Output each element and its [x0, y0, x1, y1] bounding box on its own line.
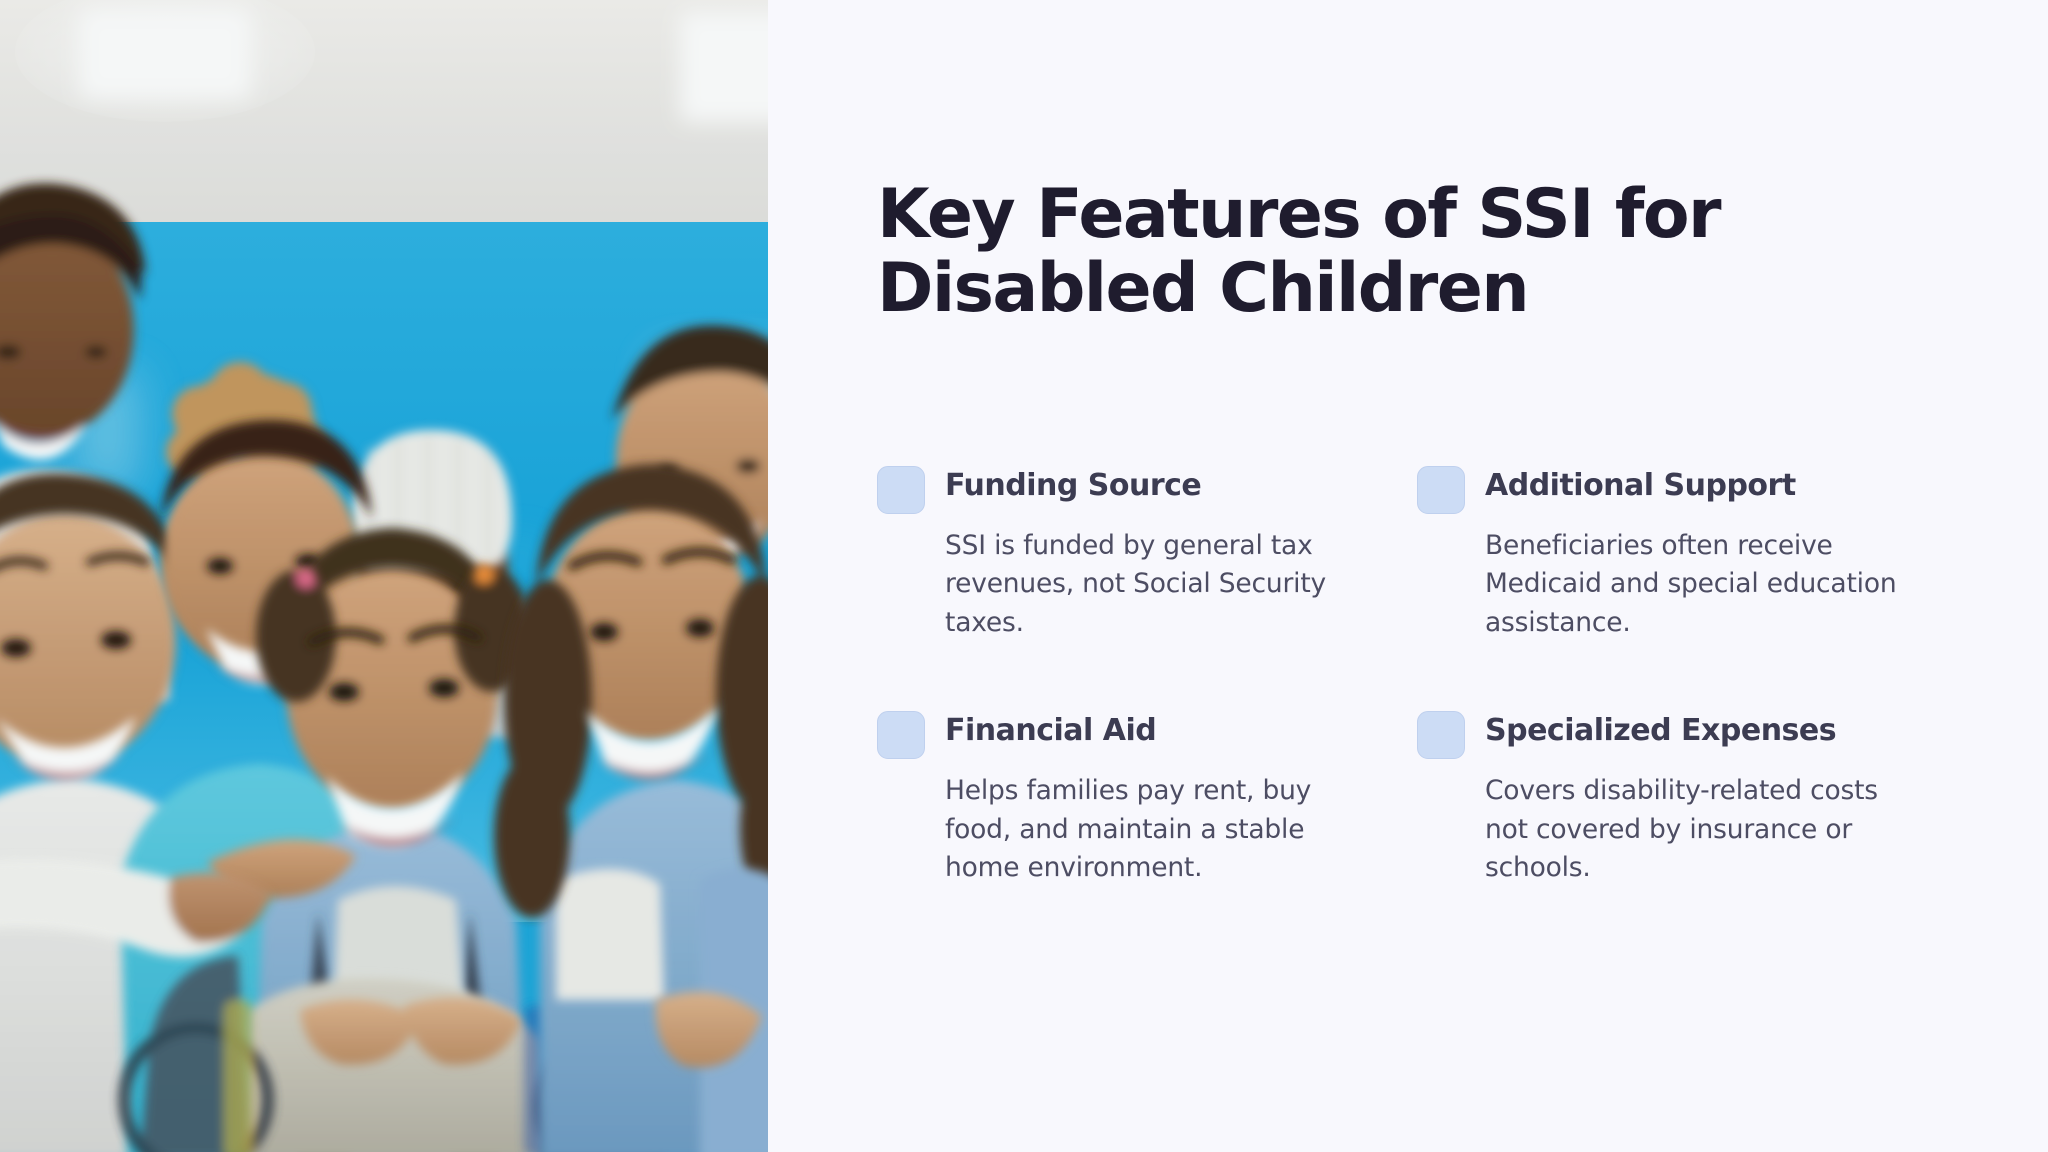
feature-header: Financial Aid [877, 708, 1417, 759]
hero-photo-illustration [0, 0, 768, 1152]
feature-card-funding-source: Funding Source SSI is funded by general … [877, 463, 1417, 642]
feature-description: Helps families pay rent, buy food, and m… [945, 772, 1375, 887]
rounded-square-icon [1417, 711, 1465, 759]
feature-header: Additional Support [1417, 463, 1967, 514]
feature-title: Additional Support [1485, 463, 1796, 504]
feature-title: Specialized Expenses [1485, 708, 1836, 749]
feature-description: SSI is funded by general tax revenues, n… [945, 527, 1375, 642]
feature-card-specialized-expenses: Specialized Expenses Covers disability-r… [1417, 708, 1967, 887]
hero-photo [0, 0, 768, 1152]
feature-description: Beneficiaries often receive Medicaid and… [1485, 527, 1905, 642]
feature-description: Covers disability-related costs not cove… [1485, 772, 1905, 887]
rounded-square-icon [877, 711, 925, 759]
slide-root: Key Features of SSI for Disabled Childre… [0, 0, 2048, 1152]
feature-title: Funding Source [945, 463, 1201, 504]
feature-card-financial-aid: Financial Aid Helps families pay rent, b… [877, 708, 1417, 887]
features-grid: Funding Source SSI is funded by general … [877, 463, 1967, 888]
feature-title: Financial Aid [945, 708, 1156, 749]
rounded-square-icon [1417, 466, 1465, 514]
feature-card-additional-support: Additional Support Beneficiaries often r… [1417, 463, 1967, 642]
page-title: Key Features of SSI for Disabled Childre… [877, 178, 1757, 326]
rounded-square-icon [877, 466, 925, 514]
feature-header: Specialized Expenses [1417, 708, 1967, 759]
content-panel: Key Features of SSI for Disabled Childre… [768, 0, 2048, 1152]
feature-header: Funding Source [877, 463, 1417, 514]
